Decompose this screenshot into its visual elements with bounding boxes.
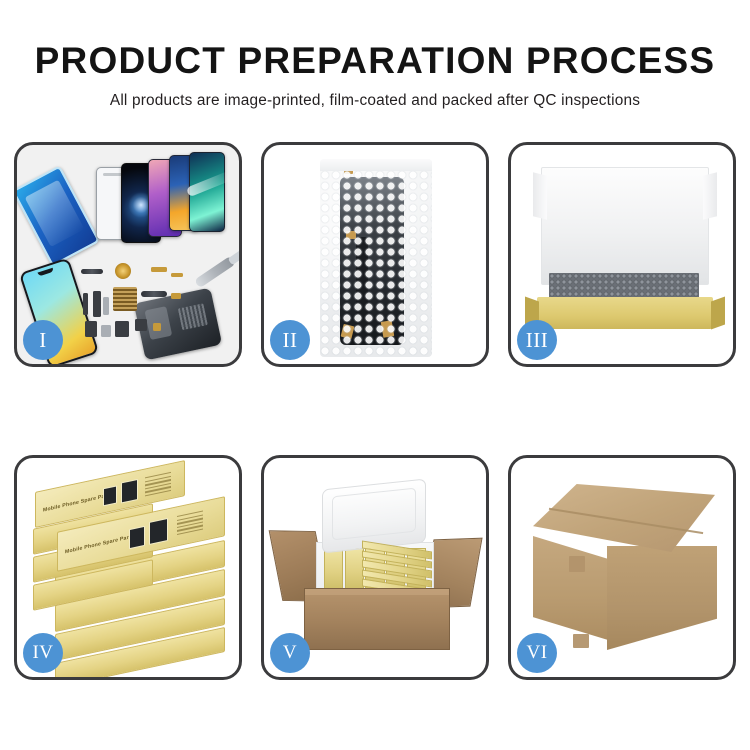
charging-port-part-icon [135,319,147,331]
carton-right-face-icon [607,546,717,650]
ribbon-cable-part-icon [141,291,167,297]
bubble-texture-overlay [320,159,432,357]
step-panel-5: V [261,455,489,680]
vibration-motor-part-icon [83,293,88,315]
speaker-coil-part-icon [115,263,131,279]
earpiece-part-icon [101,325,111,337]
step-1-badge: I [23,320,63,360]
step-panel-4: Mobile Phone Spare Parts Mobile Phone Sp… [14,455,242,680]
stacked-boxes-icon: Mobile Phone Spare Parts Mobile Phone Sp… [27,472,233,668]
step-panel-6: VI [508,455,736,680]
product-preparation-infographic: PRODUCT PREPARATION PROCESS All products… [0,0,750,750]
process-steps-grid: I II [14,142,736,680]
screw-set-part-icon [153,323,161,331]
yellow-box-item [324,548,343,592]
carton-left-face-icon [533,536,608,640]
step-3-badge: III [517,320,557,360]
screwdriver-tool-icon [194,256,236,289]
loudspeaker-part-icon [115,321,129,337]
white-box-lid-icon [541,167,709,285]
page-title: PRODUCT PREPARATION PROCESS [0,42,750,81]
step-panel-2: II [261,142,489,367]
page-subtitle: All products are image-printed, film-coa… [0,92,750,110]
step-panel-3: III [508,142,736,367]
header: PRODUCT PREPARATION PROCESS All products… [0,0,750,110]
step-4-badge: IV [23,633,63,673]
step-5-badge: V [270,633,310,673]
ic-chip-part-icon [113,287,137,311]
carton-front-panel-icon [304,588,450,650]
step-6-badge: VI [517,633,557,673]
yellow-inner-box-base-icon [537,297,713,329]
flex-cable-part-icon [81,269,103,274]
carton-tape-upper-icon [569,556,585,572]
carton-tape-lower-icon [573,634,589,648]
step-panel-1: I [14,142,242,367]
metal-shield-part-icon [103,297,109,315]
step-2-badge: II [270,320,310,360]
gold-connector-part-icon [151,267,167,272]
teal-display-phone-icon [189,152,225,232]
bag-seal-icon [320,159,432,171]
bubble-wrap-bag-icon [320,159,432,357]
battery-connector-part-icon [85,321,97,337]
camera-module-part-icon [93,291,101,317]
gold-bracket-part-icon [171,273,183,277]
blue-screen-phone-icon [17,165,100,266]
sim-tray-part-icon [171,293,181,299]
carton-top-seam-icon [541,494,711,548]
spare-parts-cluster [81,263,197,361]
